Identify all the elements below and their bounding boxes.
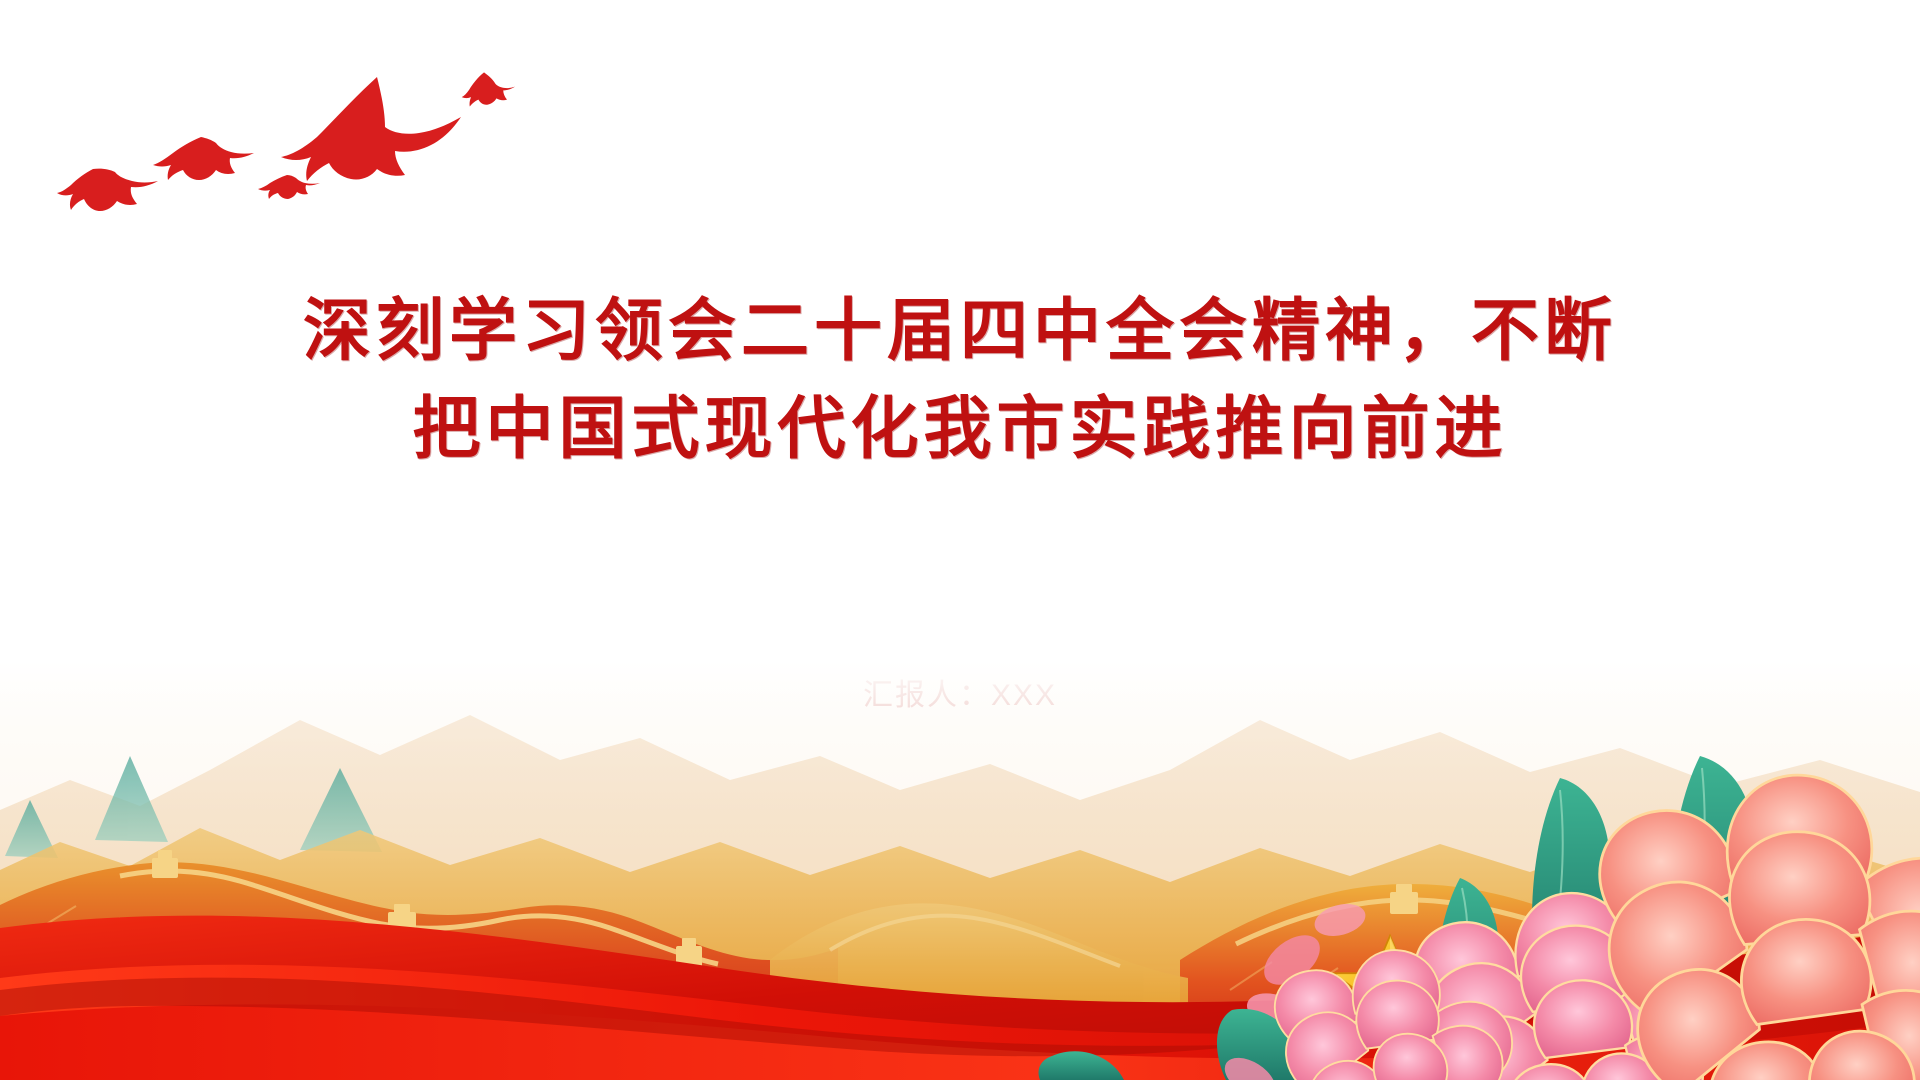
flying-birds-decoration xyxy=(55,55,565,220)
title-line-2: 把中国式现代化我市实践推向前进 xyxy=(0,380,1920,478)
bird-icon xyxy=(57,169,158,211)
bird-icon xyxy=(281,77,461,181)
bird-icon xyxy=(153,137,254,180)
page-title: 深刻学习领会二十届四中全会精神，不断 把中国式现代化我市实践推向前进 xyxy=(0,282,1920,478)
slide-canvas: 深刻学习领会二十届四中全会精神，不断 把中国式现代化我市实践推向前进 汇报人：X… xyxy=(0,0,1920,1080)
title-line-1: 深刻学习领会二十届四中全会精神，不断 xyxy=(0,282,1920,380)
bird-icon xyxy=(258,175,320,199)
bird-icon xyxy=(462,72,515,106)
scenery-group xyxy=(0,660,1920,1080)
bottom-decoration xyxy=(0,660,1920,1080)
bird-icon-group xyxy=(57,72,515,211)
